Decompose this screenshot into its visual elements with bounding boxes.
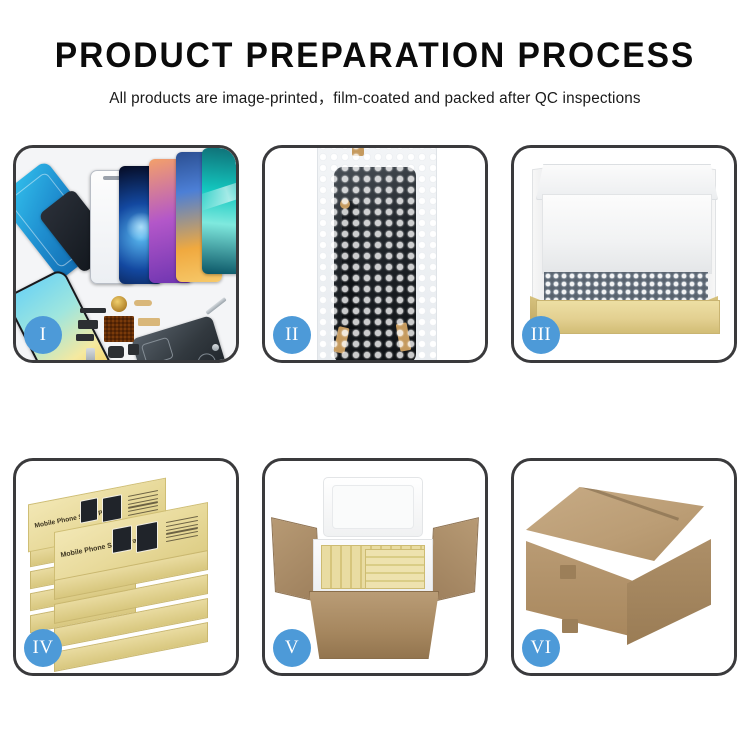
step-1-illustration: I <box>16 148 236 360</box>
chip-ic-icon <box>128 344 139 355</box>
process-step-panel-6[interactable]: VI <box>511 458 737 676</box>
step-badge-3: III <box>522 316 560 354</box>
step-2-illustration: II <box>265 148 485 360</box>
carton-top-face-icon <box>526 487 704 561</box>
box-art-phone-1 <box>112 525 132 554</box>
ribbon-cable-icon <box>138 318 160 326</box>
speaker-strip-icon <box>80 308 106 313</box>
bubble-wrap-bag-icon <box>317 148 437 360</box>
box-front-panel-icon <box>536 300 720 334</box>
page-header: PRODUCT PREPARATION PROCESS All products… <box>0 0 750 108</box>
screwdriver-icon <box>205 297 226 315</box>
step-6-illustration: VI <box>514 461 734 673</box>
foam-sheet-icon <box>542 194 712 274</box>
process-step-panel-1[interactable]: I <box>13 145 239 363</box>
tape-top-icon <box>352 148 364 156</box>
process-step-panel-3[interactable]: III <box>511 145 737 363</box>
sim-tray-icon <box>86 348 95 360</box>
screen-flex-cable-icon <box>342 201 358 329</box>
process-steps-grid: I II III <box>13 145 737 676</box>
step-5-illustration: V <box>265 461 485 673</box>
tape-mid-icon <box>340 199 350 209</box>
carton-flap-right-icon <box>429 517 479 603</box>
styrofoam-lid-icon <box>323 477 423 537</box>
process-step-panel-4[interactable]: Mobile Phone Spare Parts Mobile Phone Sp… <box>13 458 239 676</box>
camera-module-icon <box>78 320 98 329</box>
box-art-phone-2 <box>136 521 158 553</box>
carton-tape-upper-icon <box>560 565 576 579</box>
step-badge-1: I <box>24 316 62 354</box>
carton-left-face-icon <box>526 541 634 637</box>
vibration-motor-icon <box>111 296 127 312</box>
packed-retail-boxes-row-2 <box>365 549 425 589</box>
process-step-panel-2[interactable]: II <box>262 145 488 363</box>
page-title: PRODUCT PREPARATION PROCESS <box>15 36 735 76</box>
step-badge-4: IV <box>24 629 62 667</box>
step-3-illustration: III <box>514 148 734 360</box>
process-step-panel-5[interactable]: V <box>262 458 488 676</box>
connector-icon <box>76 334 94 341</box>
phone-screen-teal-icon <box>202 148 236 274</box>
page-subtitle: All products are image-printed，film-coat… <box>0 86 750 108</box>
step-badge-2: II <box>273 316 311 354</box>
logic-board-icon <box>104 316 134 342</box>
step-badge-6: VI <box>522 629 560 667</box>
taptic-engine-icon <box>108 346 124 358</box>
flex-cable-icon <box>134 300 152 306</box>
carton-tape-lower-icon <box>562 619 578 633</box>
carton-body-icon <box>309 591 439 659</box>
step-badge-5: V <box>273 629 311 667</box>
step-4-illustration: Mobile Phone Spare Parts Mobile Phone Sp… <box>16 461 236 673</box>
screw-icon <box>212 344 219 351</box>
